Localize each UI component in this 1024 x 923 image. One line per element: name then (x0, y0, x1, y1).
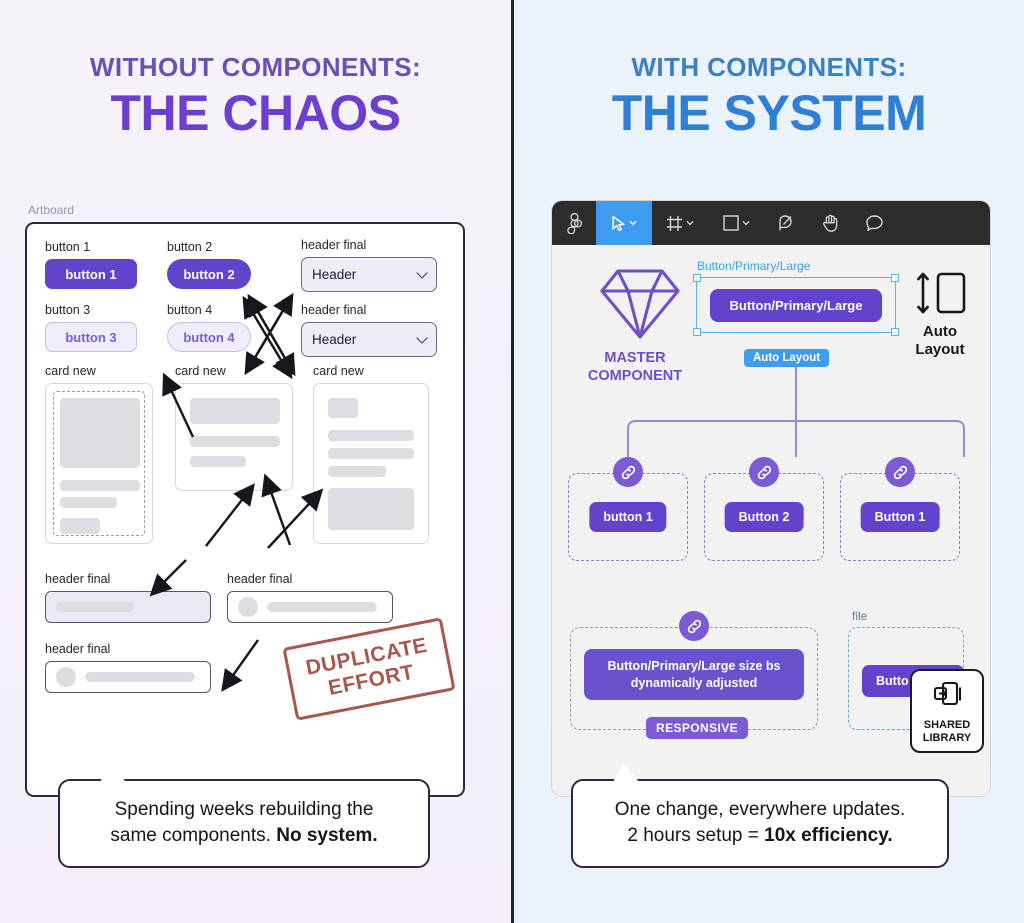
field-label: button 1 (45, 240, 137, 254)
field-label: button 4 (167, 303, 251, 317)
cursor-icon[interactable] (596, 201, 652, 245)
instance-button[interactable]: Button 2 (725, 502, 804, 532)
link-icon (885, 457, 915, 487)
card-new-2 (175, 383, 293, 491)
file-label: file (852, 609, 867, 623)
right-heading-block: WITH COMPONENTS: THE SYSTEM (514, 0, 1024, 140)
caption-bold: 10x efficiency. (764, 825, 893, 846)
artboard-label: Artboard (28, 203, 74, 217)
field-header-select-2: header final Header (301, 303, 437, 357)
header-field-label-1: header final (45, 572, 110, 586)
right-kicker: WITH COMPONENTS: (514, 52, 1024, 83)
card-new-3 (313, 383, 429, 544)
link-icon (749, 457, 779, 487)
left-title: THE CHAOS (0, 87, 511, 140)
button-2[interactable]: button 2 (167, 259, 251, 289)
field-label: header final (301, 238, 437, 252)
panel-with-components: WITH COMPONENTS: THE SYSTEM (514, 0, 1024, 923)
header-select-2[interactable]: Header (301, 322, 437, 357)
caption-line-2: same components. No system. (78, 823, 410, 850)
hand-icon[interactable] (808, 201, 852, 245)
figma-window: MASTER COMPONENT Button/Primary/Large Bu… (551, 200, 991, 797)
shape-icon[interactable] (708, 201, 764, 245)
chevron-down-icon (416, 332, 427, 343)
left-kicker: WITHOUT COMPONENTS: (0, 52, 511, 83)
right-caption-bubble: One change, everywhere updates. 2 hours … (571, 779, 949, 868)
link-icon (679, 611, 709, 641)
field-header-select-1: header final Header (301, 238, 437, 292)
field-button-2: button 2 button 2 (167, 240, 251, 289)
caption-normal: 2 hours setup = (627, 825, 764, 846)
chevron-down-icon (416, 267, 427, 278)
responsive-chip: RESPONSIVE (646, 717, 748, 739)
caption-line-1: One change, everywhere updates. (591, 797, 929, 824)
responsive-button[interactable]: Button/Primary/Large size bs dynamically… (584, 649, 804, 700)
select-value: Header (312, 267, 356, 282)
comment-icon[interactable] (852, 201, 896, 245)
header-field-label-3: header final (45, 642, 110, 656)
header-field-3[interactable] (45, 661, 211, 693)
header-field-2[interactable] (227, 591, 393, 623)
figma-canvas: MASTER COMPONENT Button/Primary/Large Bu… (552, 245, 990, 797)
button-4[interactable]: button 4 (167, 322, 251, 352)
header-field-1[interactable] (45, 591, 211, 623)
header-field-label-2: header final (227, 572, 292, 586)
card-label-3: card new (313, 364, 364, 378)
select-value: Header (312, 332, 356, 347)
left-caption-bubble: Spending weeks rebuilding the same compo… (58, 779, 430, 868)
frame-icon[interactable] (652, 201, 708, 245)
shared-library-icon (931, 678, 963, 715)
field-button-3: button 3 button 3 (45, 303, 137, 352)
caption-normal: same components. (110, 825, 276, 846)
left-heading-block: WITHOUT COMPONENTS: THE CHAOS (0, 0, 511, 140)
header-select-1[interactable]: Header (301, 257, 437, 292)
caption-line-1: Spending weeks rebuilding the (78, 797, 410, 824)
right-title: THE SYSTEM (514, 87, 1024, 140)
artboard-frame: button 1 button 1 button 2 button 2 butt… (25, 222, 465, 797)
avatar (56, 667, 76, 687)
figma-logo-icon[interactable] (552, 201, 596, 245)
panel-without-components: WITHOUT COMPONENTS: THE CHAOS Artboard b… (0, 0, 511, 923)
field-button-4: button 4 button 4 (167, 303, 251, 352)
card-label-2: card new (175, 364, 226, 378)
avatar (238, 597, 258, 617)
field-label: button 3 (45, 303, 137, 317)
card-label-1: card new (45, 364, 96, 378)
field-button-1: button 1 button 1 (45, 240, 137, 289)
link-icon (613, 457, 643, 487)
field-label: header final (301, 303, 437, 317)
caption-line-2: 2 hours setup = 10x efficiency. (591, 823, 929, 850)
pen-icon[interactable] (764, 201, 808, 245)
button-1[interactable]: button 1 (45, 259, 137, 289)
shared-library-card: SHARED LIBRARY (910, 669, 984, 753)
caption-bold: No system. (276, 825, 377, 846)
card-new-1 (45, 383, 153, 544)
instance-button[interactable]: button 1 (589, 502, 666, 532)
field-label: button 2 (167, 240, 251, 254)
button-3[interactable]: button 3 (45, 322, 137, 352)
instance-button[interactable]: Button 1 (861, 502, 940, 532)
figma-toolbar (552, 201, 990, 245)
comparison-infographic: WITHOUT COMPONENTS: THE CHAOS Artboard b… (0, 0, 1024, 923)
